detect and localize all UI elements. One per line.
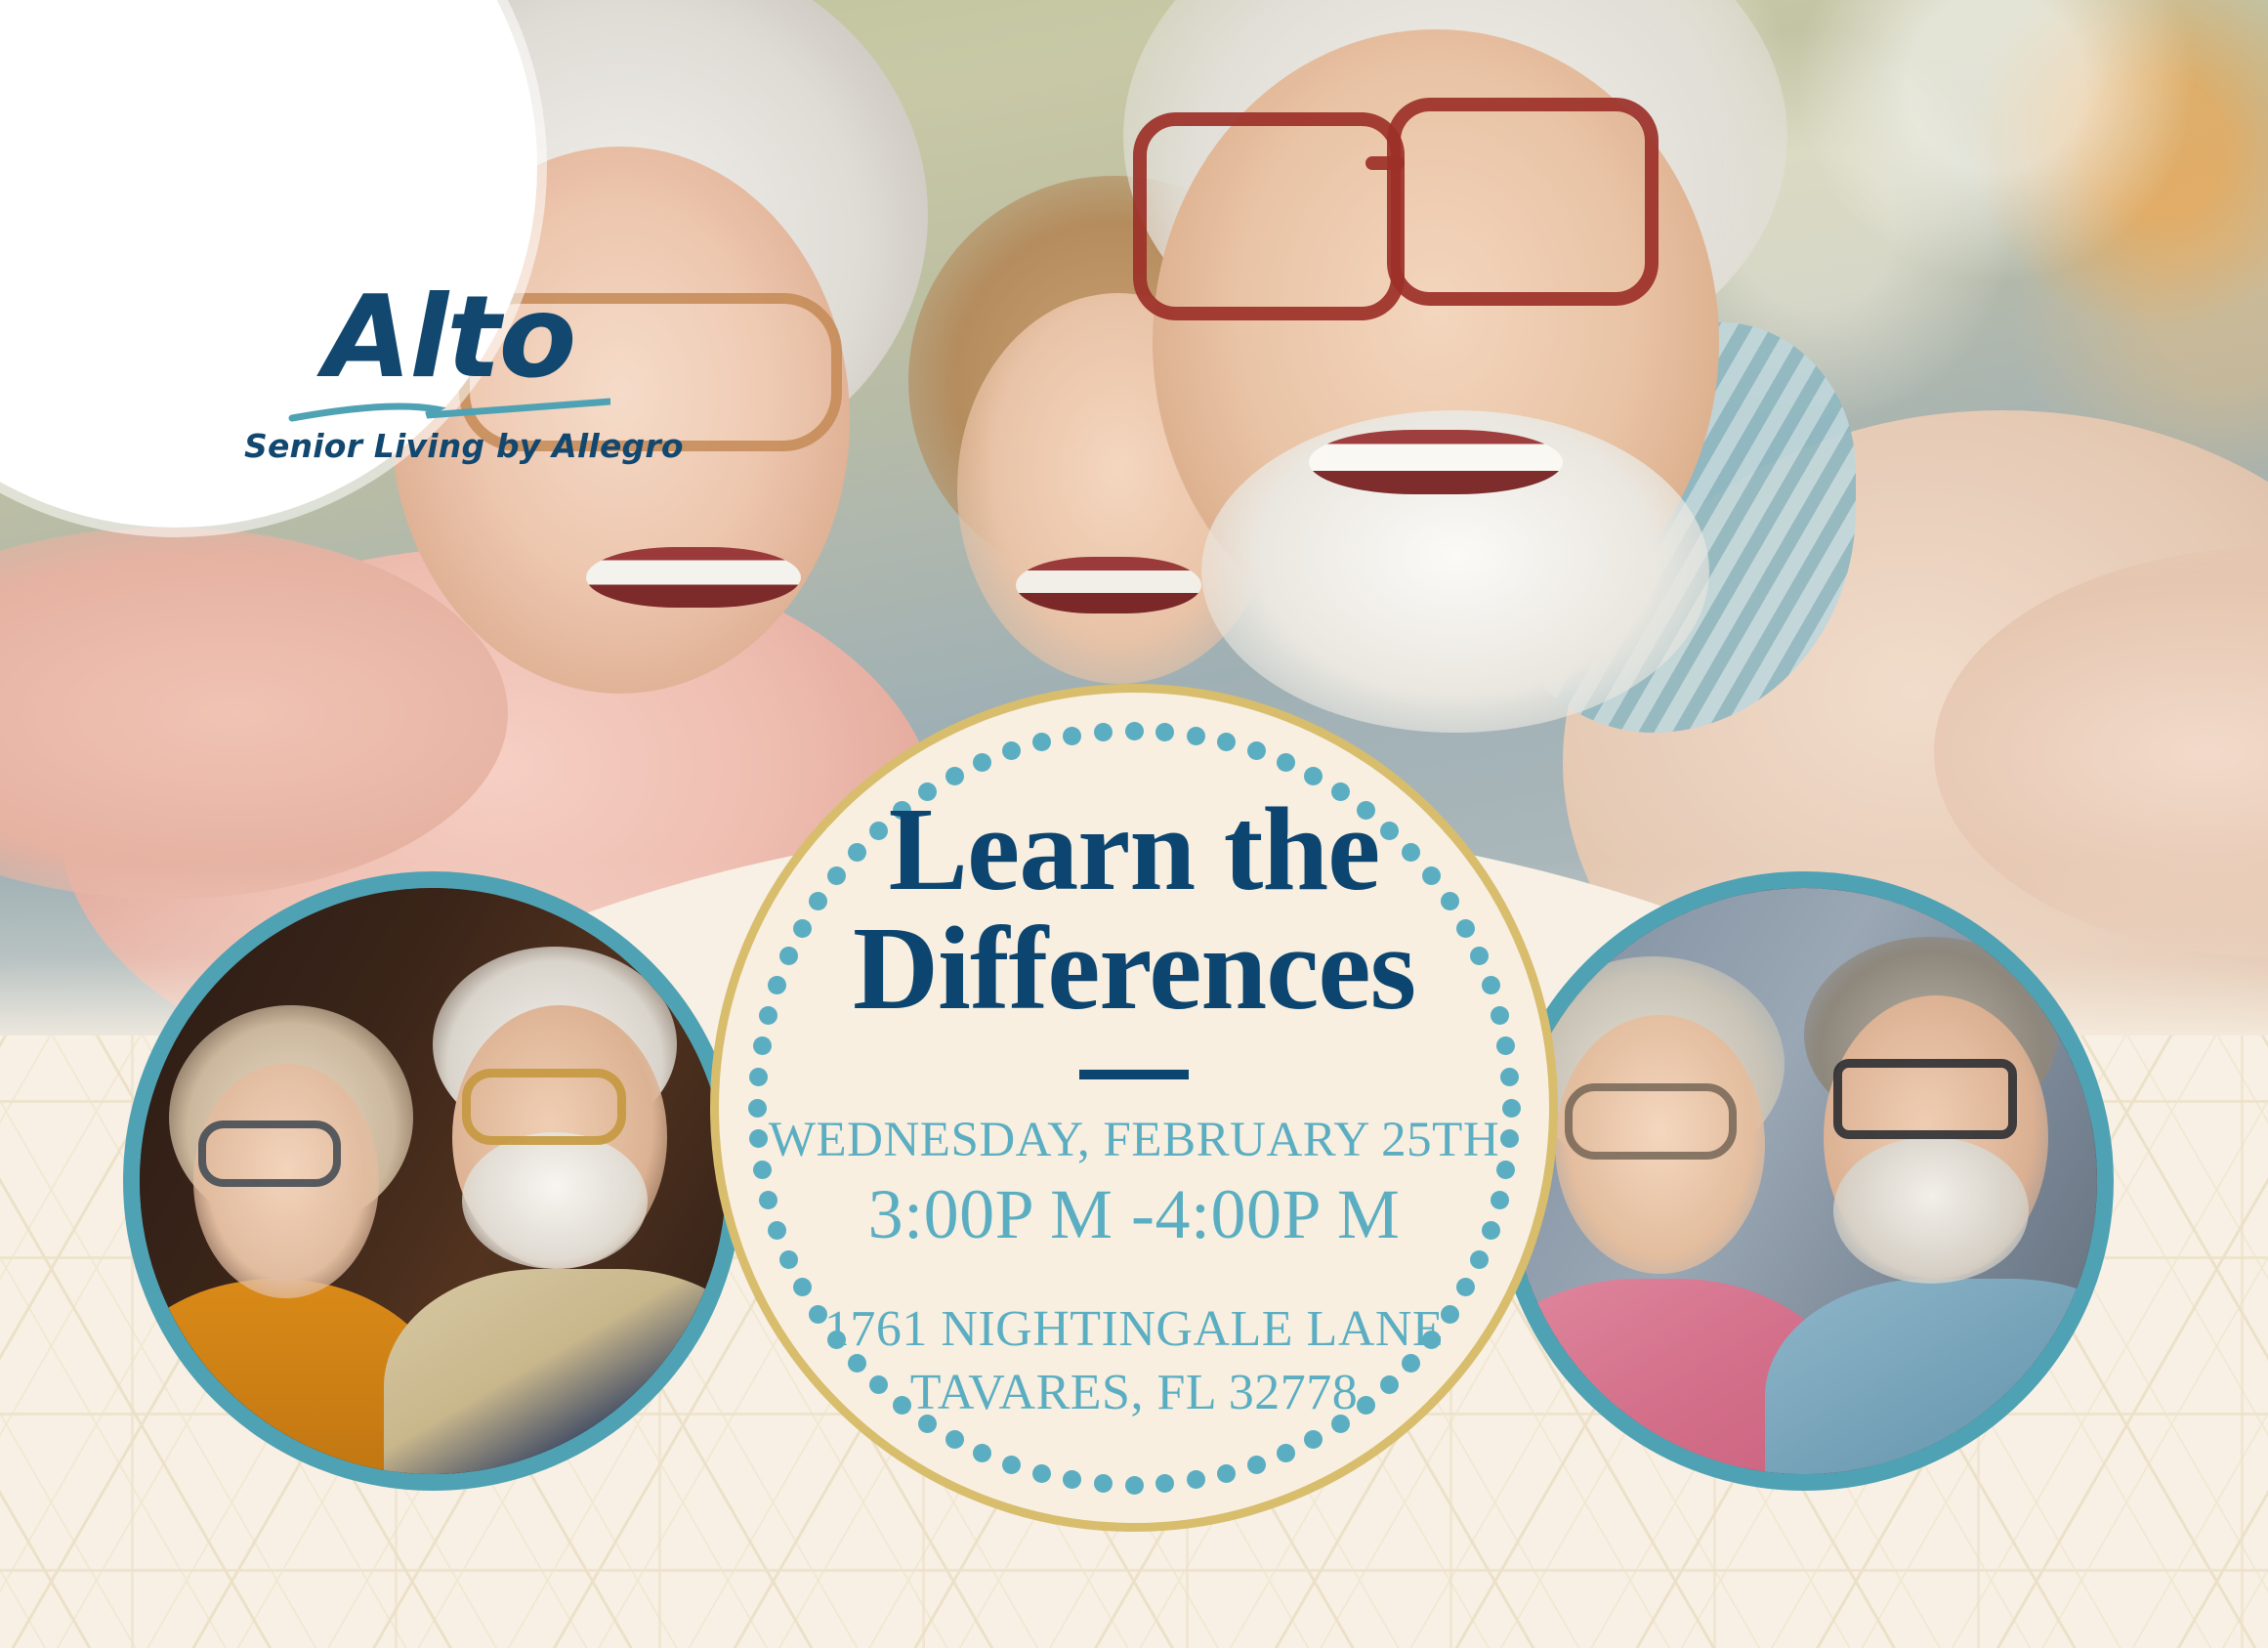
swoosh-underline-icon [288, 398, 610, 423]
divider-rule [1079, 1070, 1189, 1079]
alto-logo: Alto Senior Living by Allegro [244, 283, 654, 465]
right-photo-content [1511, 888, 2097, 1474]
event-date: WEDNESDAY, FEBRUARY 25TH [769, 1113, 1499, 1168]
headline-line-2: Differences [853, 909, 1415, 1029]
alto-wordmark: Alto [244, 283, 654, 392]
eyeglasses-icon [1833, 1059, 2017, 1139]
left-circle-photo [123, 871, 742, 1491]
eyeglasses-icon [1387, 98, 1659, 306]
eyeglasses-icon [198, 1120, 341, 1187]
eyeglasses-icon [1133, 112, 1405, 320]
eyeglasses-icon [462, 1069, 626, 1145]
event-address-street: 1761 NIGHTINGALE LANE [824, 1297, 1444, 1362]
headline-line-1: Learn the [889, 783, 1380, 915]
event-medallion: Learn the Differences WEDNESDAY, FEBRUAR… [710, 684, 1558, 1532]
event-details: Learn the Differences WEDNESDAY, FEBRUAR… [719, 693, 1549, 1523]
left-photo-content [140, 888, 726, 1474]
flyer-canvas: Alto Senior Living by Allegro [0, 0, 2268, 1648]
alto-tagline: Senior Living by Allegro [244, 427, 654, 465]
page-title: Learn the Differences [853, 790, 1415, 1029]
event-time: 3:00P M -4:00P M [868, 1176, 1401, 1253]
right-circle-photo [1494, 871, 2114, 1491]
eyeglasses-icon [1565, 1083, 1737, 1160]
event-address-city: TAVARES, FL 32778 [910, 1361, 1358, 1425]
